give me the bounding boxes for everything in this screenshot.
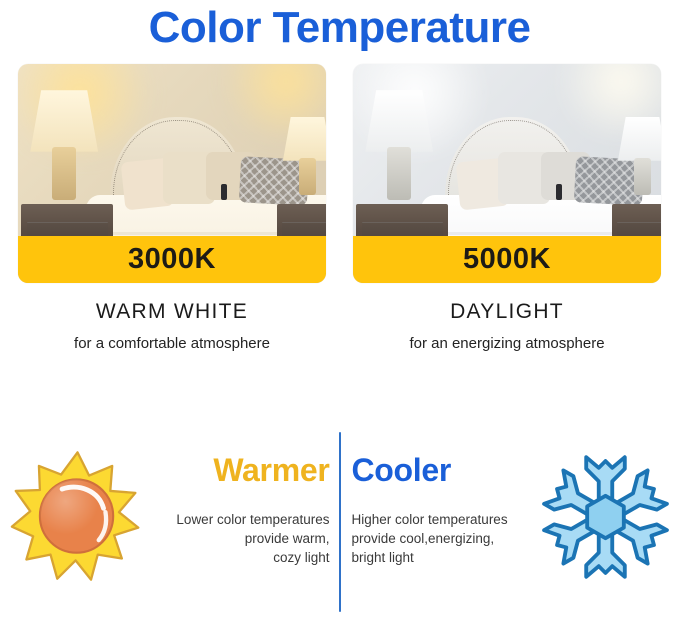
sun-icon <box>10 442 145 592</box>
kelvin-value: 5000K <box>463 243 551 276</box>
cooler-heading: Cooler <box>352 454 452 488</box>
kelvin-band-warm: 3000K <box>18 236 326 283</box>
lamp-shade <box>30 90 98 151</box>
snowflake-icon-graphic <box>538 442 673 592</box>
warmer-heading: Warmer <box>213 454 329 488</box>
table-lamp-right <box>283 117 326 196</box>
comparison-column-daylight: 5000K DAYLIGHT for an energizing atmosph… <box>353 64 661 354</box>
kelvin-value: 3000K <box>128 243 216 276</box>
lamp-base <box>52 147 76 200</box>
pillow-tassel <box>221 184 227 200</box>
caption-desc-warm: for a comfortable atmosphere <box>74 333 270 354</box>
sun-icon-graphic <box>10 442 145 592</box>
lamp-base <box>387 147 411 200</box>
warmer-block: Warmer Lower color temperatures provide … <box>0 430 340 638</box>
snowflake-icon <box>538 442 673 592</box>
bottom-section: Warmer Lower color temperatures provide … <box>0 430 679 638</box>
photo-card-warm: 3000K <box>18 64 326 283</box>
kelvin-band-daylight: 5000K <box>353 236 661 283</box>
pillow-tassel <box>556 184 562 200</box>
table-lamp-right <box>618 117 661 196</box>
comparison-row: 3000K WARM WHITE for a comfortable atmos… <box>0 54 679 354</box>
warmer-text: Warmer Lower color temperatures provide … <box>145 442 332 638</box>
lamp-shade <box>283 117 326 161</box>
cooler-text: Cooler Higher color temperatures provide… <box>350 442 539 638</box>
page-title: Color Temperature <box>0 0 679 54</box>
caption-desc-daylight: for an energizing atmosphere <box>409 333 604 354</box>
table-lamp-left <box>30 90 98 200</box>
caption-name-warm: WARM WHITE <box>96 300 248 324</box>
lamp-base <box>634 158 652 196</box>
warmer-description: Lower color temperatures provide warm, c… <box>176 510 329 567</box>
cooler-block: Cooler Higher color temperatures provide… <box>340 430 679 638</box>
comparison-column-warm: 3000K WARM WHITE for a comfortable atmos… <box>18 64 326 354</box>
photo-card-daylight: 5000K <box>353 64 661 283</box>
lamp-shade <box>365 90 433 151</box>
table-lamp-left <box>365 90 433 200</box>
cooler-description: Higher color temperatures provide cool,e… <box>352 510 508 567</box>
lamp-shade <box>618 117 661 161</box>
caption-name-daylight: DAYLIGHT <box>450 300 564 324</box>
lamp-base <box>299 158 317 196</box>
